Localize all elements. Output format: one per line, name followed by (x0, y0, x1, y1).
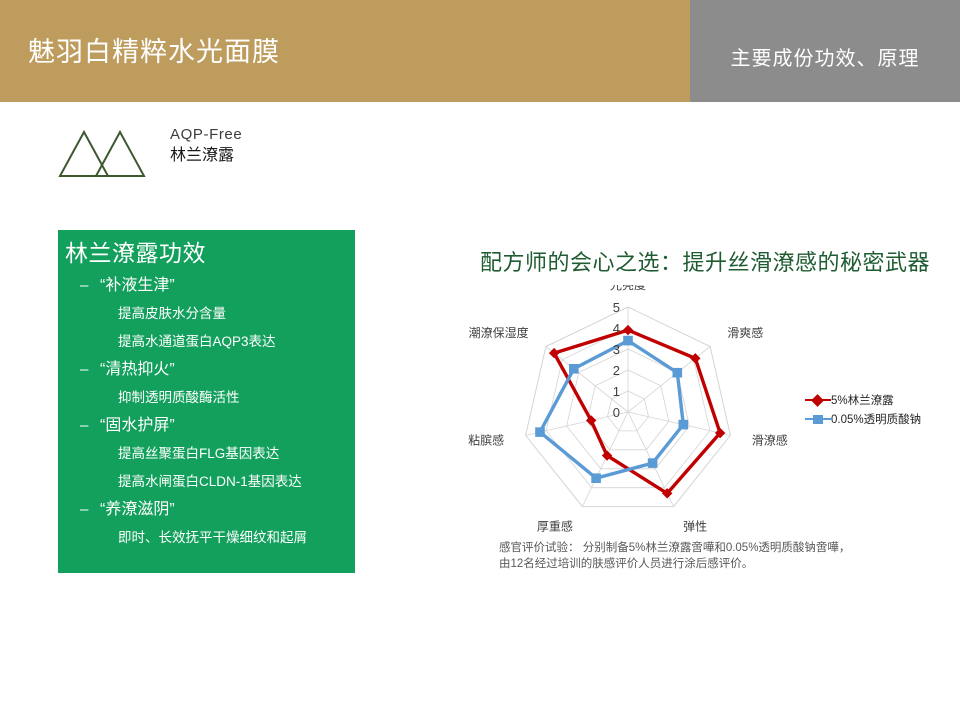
legend-item[interactable]: 5%林兰潦露 (805, 390, 921, 409)
radar-tick-label: 1 (613, 384, 620, 399)
radar-tick-label: 5 (613, 300, 620, 315)
chart-note-line-2: 由12名经过培训的肤感评价人员进行涂后感评价。 (499, 556, 949, 572)
radar-data-point (673, 368, 683, 378)
chart-section-title: 配方师的会心之选：提升丝滑潦感的秘密武器 (455, 245, 955, 277)
radar-category-label: 弹性 (683, 519, 707, 533)
efficacy-item-detail: 提高水闸蛋白CLDN-1基因表达 (58, 468, 355, 496)
radar-data-point (623, 336, 633, 346)
brand-line-aqp-free: AQP-Free (170, 124, 242, 145)
radar-data-point (690, 353, 700, 363)
radar-series-group (535, 325, 725, 499)
efficacy-item-detail: 即时、长效抚平干燥细纹和起屑 (58, 524, 355, 552)
radar-data-point (591, 473, 601, 483)
radar-axis-spoke (582, 412, 628, 507)
radar-tick-labels: 012345 (613, 300, 620, 420)
legend-item-label: 5%林兰潦露 (831, 392, 894, 408)
efficacy-item-detail: 提高水通道蛋白AQP3表达 (58, 328, 355, 356)
page-title: 魅羽白精粹水光面膜 (28, 30, 280, 69)
double-triangle-mountain-icon (58, 128, 158, 180)
brand-block: AQP-Free 林兰潦露 (58, 122, 378, 192)
radar-category-label: 光亮度 (610, 285, 646, 292)
efficacy-item-head-label: “养潦滋阴” (100, 501, 175, 518)
bullet-dash-icon: – (80, 356, 88, 384)
bullet-dash-icon: – (80, 412, 88, 440)
radar-category-label: 滑潦感 (752, 432, 788, 447)
efficacy-item-head: –“固水护屏” (58, 412, 355, 440)
chart-note-line-1: 感官评价试验： 分别制备5%林兰潦露啻嘩和0.05%透明质酸钠啻嘩， (499, 540, 949, 556)
efficacy-item-detail: 提高皮肤水分含量 (58, 300, 355, 328)
brand-text: AQP-Free 林兰潦露 (170, 124, 242, 167)
efficacy-item-detail: 抑制透明质酸酶活性 (58, 384, 355, 412)
chart-legend: 5%林兰潦露0.05%透明质酸钠 (805, 390, 921, 428)
radar-category-label: 潮潦保湿度 (469, 325, 529, 340)
bullet-dash-icon: – (80, 496, 88, 524)
efficacy-list: –“补液生津”提高皮肤水分含量提高水通道蛋白AQP3表达–“清热抑火”抑制透明质… (58, 272, 355, 552)
efficacy-item-detail: 提高丝聚蛋白FLG基因表达 (58, 440, 355, 468)
radar-data-point (679, 420, 689, 430)
efficacy-item-head-label: “固水护屏” (100, 417, 175, 434)
efficacy-item-head: –“养潦滋阴” (58, 496, 355, 524)
radar-data-point (535, 427, 545, 437)
radar-data-point (648, 458, 658, 468)
header-section-tag: 主要成份功效、原理 (690, 0, 960, 102)
header-bar: 魅羽白精粹水光面膜 主要成份功效、原理 (0, 0, 960, 102)
efficacy-item-head-label: “清热抑火” (100, 361, 175, 378)
chart-note: 感官评价试验： 分别制备5%林兰潦露啻嘩和0.05%透明质酸钠啻嘩， 由12名经… (499, 540, 949, 572)
efficacy-item-head: –“补液生津” (58, 272, 355, 300)
legend-diamond-marker-icon (805, 394, 831, 406)
efficacy-panel: 林兰潦露功效 –“补液生津”提高皮肤水分含量提高水通道蛋白AQP3表达–“清热抑… (58, 230, 355, 573)
brand-line-name: 林兰潦露 (170, 145, 242, 167)
legend-item-label: 0.05%透明质酸钠 (831, 411, 921, 427)
radar-tick-label: 3 (613, 342, 620, 357)
radar-category-label: 滑爽感 (727, 325, 763, 340)
radar-data-point (623, 325, 633, 335)
radar-tick-label: 2 (613, 363, 620, 378)
radar-tick-label: 0 (613, 405, 620, 420)
efficacy-item-head: –“清热抑火” (58, 356, 355, 384)
bullet-dash-icon: – (80, 272, 88, 300)
radar-category-label: 粘膑感 (468, 432, 504, 447)
legend-item[interactable]: 0.05%透明质酸钠 (805, 409, 921, 428)
radar-data-point (569, 364, 579, 374)
header-section-tag-label: 主要成份功效、原理 (690, 42, 960, 71)
radar-tick-label: 4 (613, 321, 620, 336)
legend-square-marker-icon (805, 413, 831, 425)
efficacy-panel-title: 林兰潦露功效 (65, 234, 206, 268)
radar-category-label: 厚重感 (537, 518, 573, 533)
efficacy-item-head-label: “补液生津” (100, 277, 175, 294)
